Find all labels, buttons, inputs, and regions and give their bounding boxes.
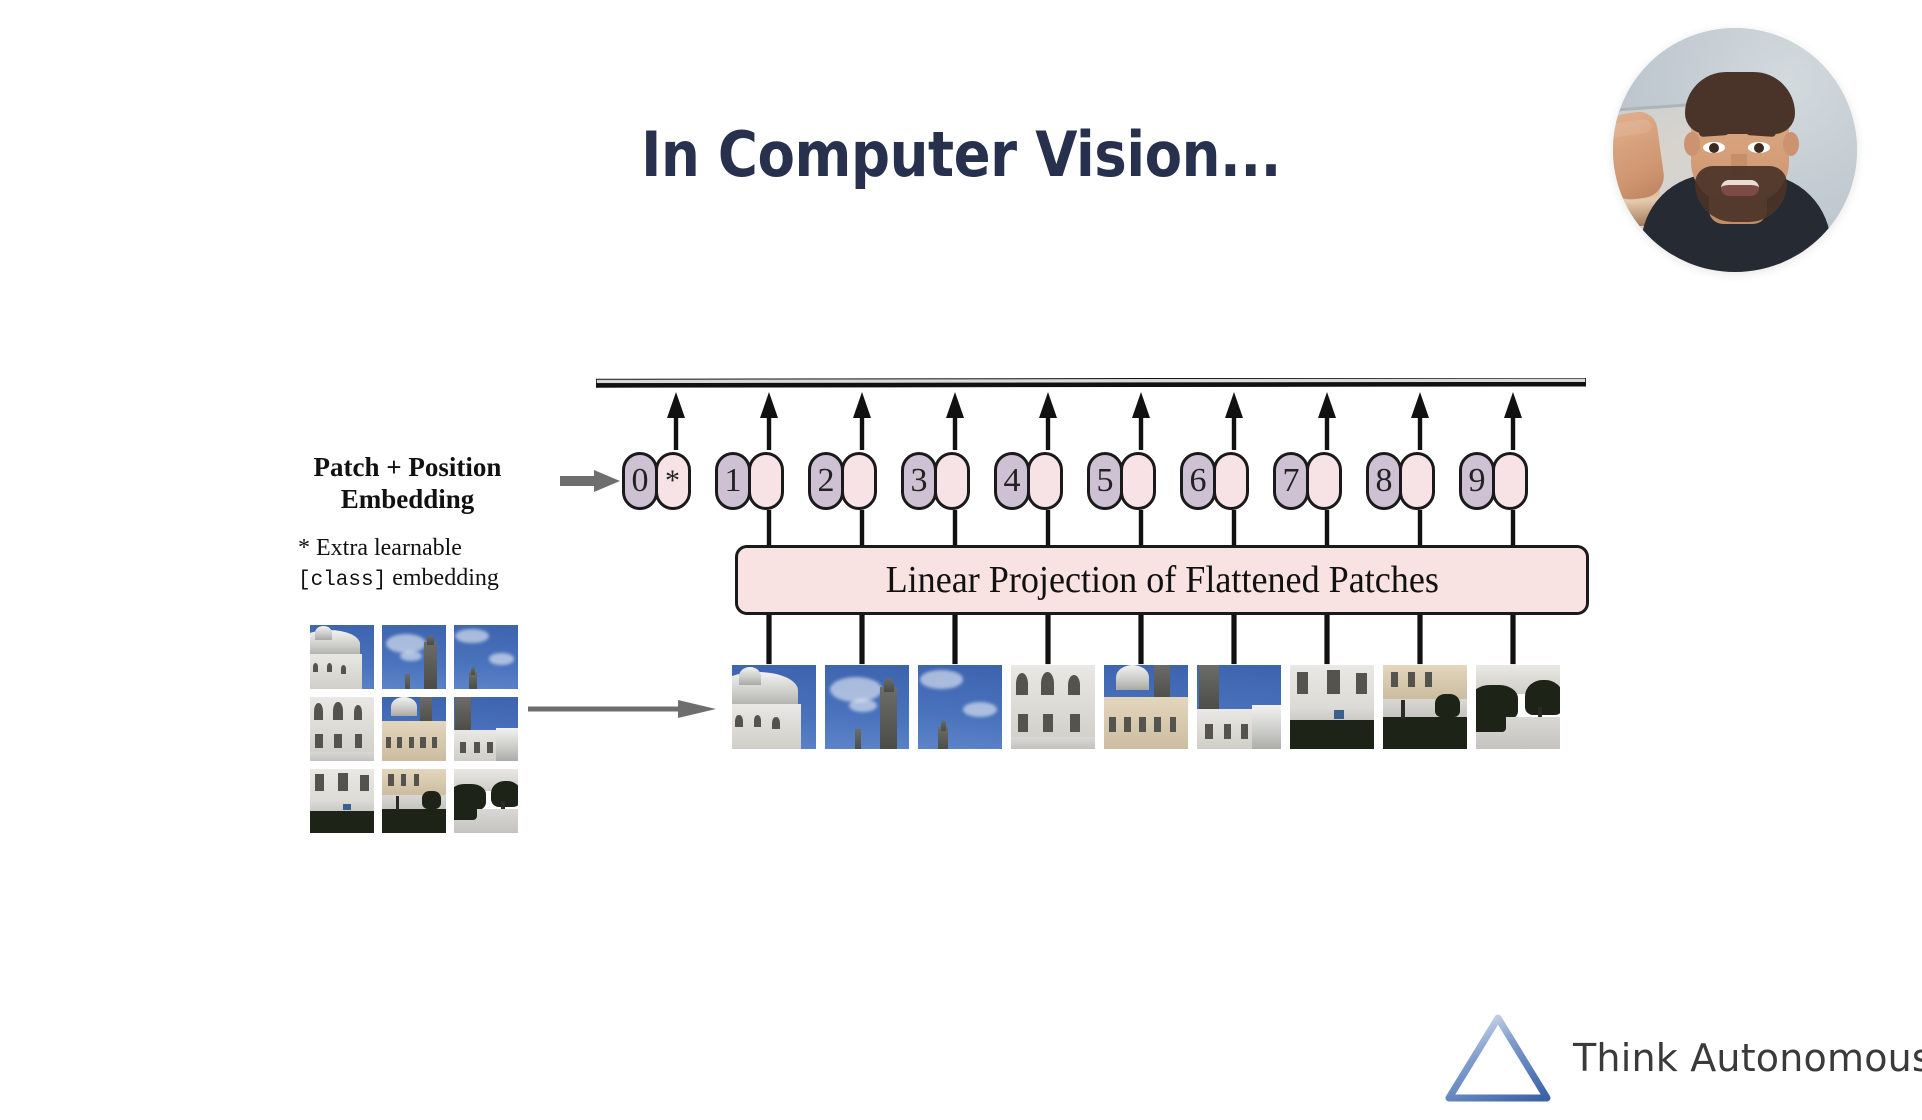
encoder-input-bar bbox=[596, 378, 1586, 388]
position-embedding-pill-2: 2 bbox=[808, 452, 844, 510]
token-up-arrow-1 bbox=[760, 392, 778, 450]
position-embedding-pill-7: 7 bbox=[1273, 452, 1309, 510]
source-patch-6 bbox=[454, 697, 518, 761]
patch-embedding-pill-3 bbox=[934, 452, 970, 510]
patch-embedding-pill-9 bbox=[1492, 452, 1528, 510]
token-up-arrow-0 bbox=[667, 392, 685, 450]
source-patch-5 bbox=[382, 697, 446, 761]
patch-embedding-pill-2 bbox=[841, 452, 877, 510]
class-token-code: [class] bbox=[298, 569, 386, 592]
patch-embedding-pill-5 bbox=[1120, 452, 1156, 510]
sequence-patch-7 bbox=[1290, 665, 1374, 749]
position-embedding-pill-9: 9 bbox=[1459, 452, 1495, 510]
projection-to-patch-line-4 bbox=[1045, 615, 1050, 667]
token-5[interactable]: 5 bbox=[1087, 452, 1156, 510]
projection-to-patch-line-1 bbox=[766, 615, 771, 667]
token-0[interactable]: 0* bbox=[622, 452, 691, 510]
token-down-line-9 bbox=[1511, 510, 1515, 545]
sequence-patch-9 bbox=[1476, 665, 1560, 749]
patch-position-line-2: Embedding bbox=[280, 484, 535, 516]
projection-to-patch-line-7 bbox=[1324, 615, 1329, 667]
token-6[interactable]: 6 bbox=[1180, 452, 1249, 510]
token-down-line-4 bbox=[1046, 510, 1050, 545]
token-9[interactable]: 9 bbox=[1459, 452, 1528, 510]
sequence-patch-8 bbox=[1383, 665, 1467, 749]
position-embedding-pill-0: 0 bbox=[622, 452, 658, 510]
token-up-arrow-4 bbox=[1039, 392, 1057, 450]
source-patch-2 bbox=[382, 625, 446, 689]
source-patch-8 bbox=[382, 769, 446, 833]
vit-diagram: 0*123456789 Linear Projection of Flatten… bbox=[0, 0, 1922, 1120]
arrow-to-patch-sequence-icon bbox=[528, 698, 718, 720]
patch-embedding-pill-1 bbox=[748, 452, 784, 510]
sequence-patch-4 bbox=[1011, 665, 1095, 749]
linear-projection-label: Linear Projection of Flattened Patches bbox=[885, 558, 1438, 602]
extra-learnable-line-1: * Extra learnable bbox=[298, 534, 558, 564]
position-embedding-pill-3: 3 bbox=[901, 452, 937, 510]
position-embedding-pill-5: 5 bbox=[1087, 452, 1123, 510]
projection-to-patch-line-3 bbox=[952, 615, 957, 667]
token-8[interactable]: 8 bbox=[1366, 452, 1435, 510]
token-3[interactable]: 3 bbox=[901, 452, 970, 510]
triangle-icon bbox=[1443, 1012, 1553, 1104]
extra-learnable-line-2: [class] embedding bbox=[298, 564, 558, 594]
patch-position-line-1: Patch + Position bbox=[280, 452, 535, 484]
token-up-arrow-5 bbox=[1132, 392, 1150, 450]
projection-to-patch-line-6 bbox=[1231, 615, 1236, 667]
source-patch-9 bbox=[454, 769, 518, 833]
slide-canvas: In Computer Vision... 0*123456789 bbox=[0, 0, 1922, 1120]
patch-embedding-pill-8 bbox=[1399, 452, 1435, 510]
projection-to-patch-line-9 bbox=[1510, 615, 1515, 667]
token-up-arrow-6 bbox=[1225, 392, 1243, 450]
sequence-patch-2 bbox=[825, 665, 909, 749]
position-embedding-pill-4: 4 bbox=[994, 452, 1030, 510]
position-embedding-pill-8: 8 bbox=[1366, 452, 1402, 510]
sequence-patch-1 bbox=[732, 665, 816, 749]
sequence-patch-3 bbox=[918, 665, 1002, 749]
patch-position-embedding-label: Patch + Position Embedding bbox=[280, 452, 535, 515]
token-4[interactable]: 4 bbox=[994, 452, 1063, 510]
source-patch-3 bbox=[454, 625, 518, 689]
token-up-arrow-2 bbox=[853, 392, 871, 450]
token-down-line-2 bbox=[860, 510, 864, 545]
brand-name: Think Autonomous bbox=[1573, 1036, 1922, 1080]
token-1[interactable]: 1 bbox=[715, 452, 784, 510]
patch-embedding-pill-4 bbox=[1027, 452, 1063, 510]
token-2[interactable]: 2 bbox=[808, 452, 877, 510]
projection-to-patch-line-8 bbox=[1417, 615, 1422, 667]
token-down-line-8 bbox=[1418, 510, 1422, 545]
token-up-arrow-8 bbox=[1411, 392, 1429, 450]
linear-projection-box[interactable]: Linear Projection of Flattened Patches bbox=[735, 545, 1589, 615]
token-down-line-5 bbox=[1139, 510, 1143, 545]
source-patch-1 bbox=[310, 625, 374, 689]
class-token-pill: * bbox=[655, 452, 691, 510]
token-up-arrow-7 bbox=[1318, 392, 1336, 450]
source-patch-4 bbox=[310, 697, 374, 761]
token-down-line-7 bbox=[1325, 510, 1329, 545]
patch-embedding-pill-6 bbox=[1213, 452, 1249, 510]
brand-logo: Think Autonomous bbox=[1443, 1012, 1913, 1108]
token-down-line-1 bbox=[767, 510, 771, 545]
source-image-grid[interactable] bbox=[310, 625, 522, 837]
patch-sequence-strip[interactable] bbox=[732, 665, 1592, 757]
token-7[interactable]: 7 bbox=[1273, 452, 1342, 510]
arrow-to-tokens-icon bbox=[560, 468, 622, 494]
source-patch-7 bbox=[310, 769, 374, 833]
position-embedding-pill-1: 1 bbox=[715, 452, 751, 510]
projection-to-patch-line-2 bbox=[859, 615, 864, 667]
patch-embedding-pill-7 bbox=[1306, 452, 1342, 510]
sequence-patch-5 bbox=[1104, 665, 1188, 749]
sequence-patch-6 bbox=[1197, 665, 1281, 749]
token-down-line-6 bbox=[1232, 510, 1236, 545]
embedding-word: embedding bbox=[386, 565, 499, 591]
token-up-arrow-3 bbox=[946, 392, 964, 450]
extra-learnable-note: * Extra learnable [class] embedding bbox=[298, 534, 558, 594]
token-down-line-3 bbox=[953, 510, 957, 545]
projection-to-patch-line-5 bbox=[1138, 615, 1143, 667]
token-up-arrow-9 bbox=[1504, 392, 1522, 450]
position-embedding-pill-6: 6 bbox=[1180, 452, 1216, 510]
